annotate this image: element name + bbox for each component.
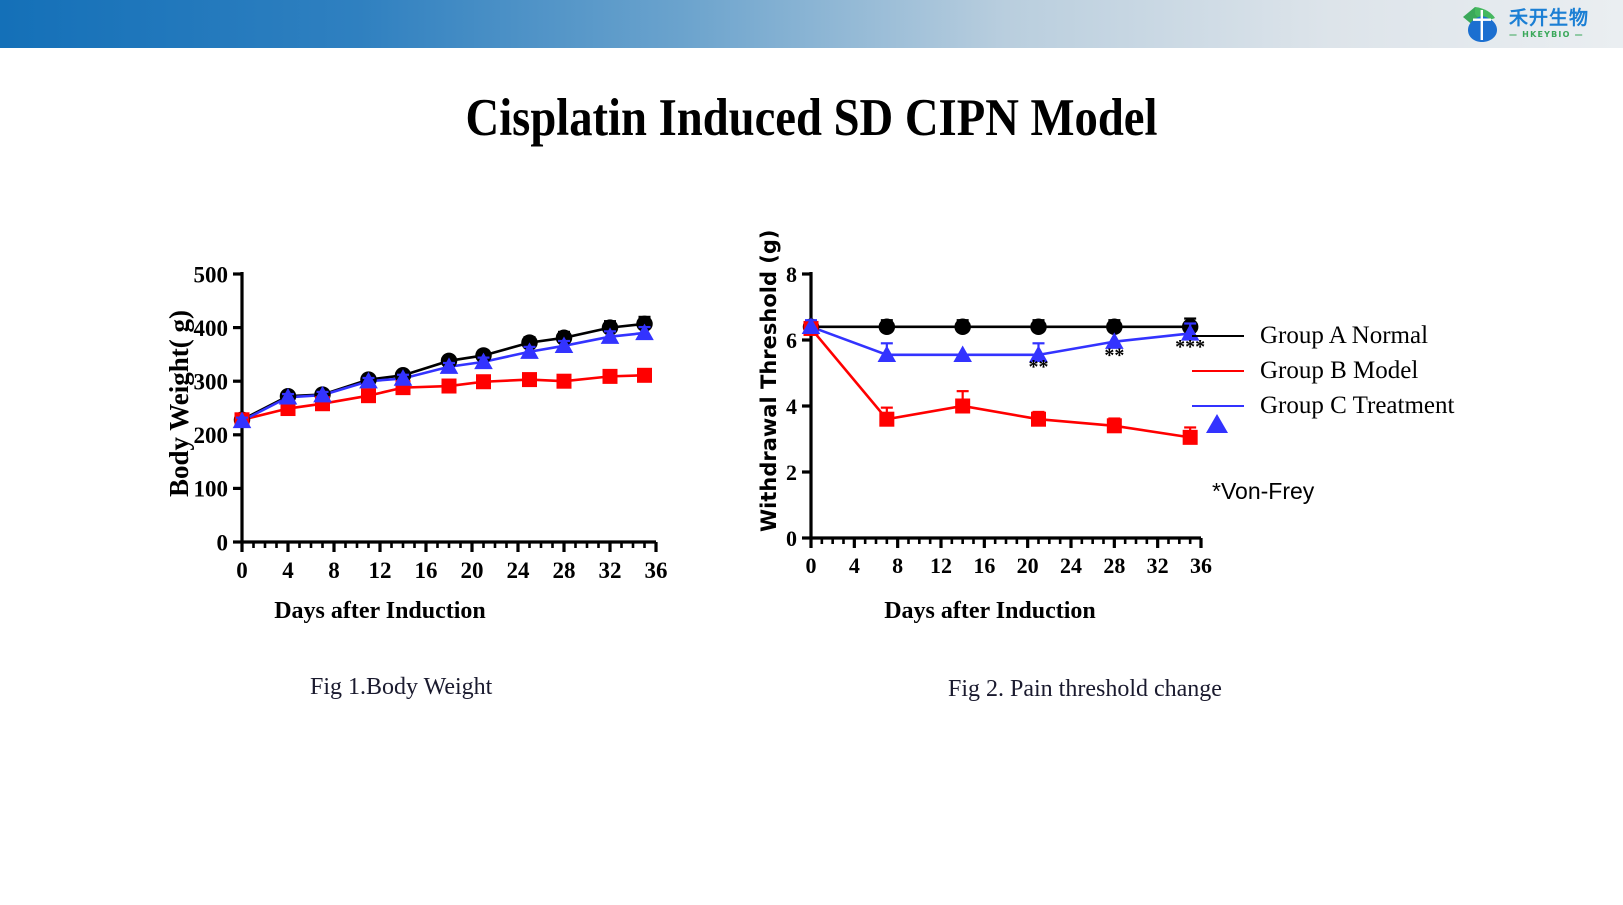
- legend-item-group-b: Group B Model: [1190, 353, 1454, 388]
- svg-text:8: 8: [328, 558, 340, 583]
- fig1-plot: 010020030040050004812162024283236: [150, 262, 670, 592]
- svg-text:36: 36: [1190, 553, 1212, 578]
- svg-text:36: 36: [645, 558, 668, 583]
- legend-label-group-a: Group A Normal: [1260, 322, 1428, 350]
- legend-item-group-a: Group A Normal: [1190, 318, 1454, 353]
- legend-item-group-c: Group C Treatment: [1190, 388, 1454, 423]
- svg-text:16: 16: [973, 553, 995, 578]
- svg-text:4: 4: [282, 558, 294, 583]
- legend-label-group-b: Group B Model: [1260, 357, 1418, 385]
- fig1-y-axis-label: Body Weight( g): [164, 310, 195, 497]
- legend-triangle-icon: [1190, 393, 1246, 419]
- svg-text:4: 4: [786, 394, 797, 419]
- logo-cn-text: 禾开生物: [1509, 9, 1589, 28]
- fig2-y-axis-label: Withdrawal Threshold (g): [757, 229, 781, 532]
- chart-legend: Group A Normal Group B Model Group C Tre…: [1190, 318, 1454, 423]
- svg-text:28: 28: [1103, 553, 1125, 578]
- fig1-x-axis-label: Days after Induction: [170, 598, 590, 625]
- svg-text:500: 500: [194, 262, 229, 287]
- svg-text:28: 28: [553, 558, 576, 583]
- figure-body-weight: Body Weight( g) 010020030040050004812162…: [150, 262, 670, 662]
- hkeybio-logo: 禾开生物 — HKEYBIO —: [1461, 3, 1611, 45]
- svg-text:12: 12: [930, 553, 952, 578]
- svg-text:24: 24: [1060, 553, 1082, 578]
- logo-en-text: — HKEYBIO —: [1509, 31, 1589, 39]
- svg-text:0: 0: [806, 553, 817, 578]
- svg-text:16: 16: [415, 558, 438, 583]
- svg-text:100: 100: [194, 477, 229, 502]
- svg-text:200: 200: [194, 423, 229, 448]
- svg-text:2: 2: [786, 460, 797, 485]
- svg-text:32: 32: [1147, 553, 1169, 578]
- legend-square-icon: [1190, 358, 1246, 384]
- logo-wordmark: 禾开生物 — HKEYBIO —: [1509, 9, 1589, 39]
- von-frey-footnote: *Von-Frey: [1212, 478, 1314, 505]
- svg-text:300: 300: [194, 369, 229, 394]
- fig2-plot: 0246804812162024283236*******: [745, 262, 1215, 592]
- svg-text:8: 8: [786, 262, 797, 287]
- svg-text:**: **: [1104, 344, 1124, 366]
- svg-text:0: 0: [786, 526, 797, 551]
- header-band: 禾开生物 — HKEYBIO —: [0, 0, 1623, 48]
- svg-text:12: 12: [369, 558, 392, 583]
- svg-text:8: 8: [892, 553, 903, 578]
- svg-text:6: 6: [786, 328, 797, 353]
- fig2-caption: Fig 2. Pain threshold change: [948, 676, 1222, 703]
- leaf-drop-logo-icon: [1461, 4, 1503, 44]
- svg-text:**: **: [1029, 356, 1049, 378]
- svg-text:0: 0: [217, 530, 229, 555]
- svg-text:20: 20: [461, 558, 484, 583]
- slide-title: Cisplatin Induced SD CIPN Model: [97, 88, 1525, 148]
- figure-pain-threshold: Withdrawal Threshold (g) 024680481216202…: [745, 262, 1215, 662]
- legend-label-group-c: Group C Treatment: [1260, 392, 1454, 420]
- svg-text:32: 32: [599, 558, 622, 583]
- svg-text:20: 20: [1017, 553, 1039, 578]
- fig1-caption: Fig 1.Body Weight: [310, 674, 492, 701]
- legend-circle-icon: [1190, 323, 1246, 349]
- svg-text:0: 0: [236, 558, 248, 583]
- svg-text:400: 400: [194, 316, 229, 341]
- svg-text:24: 24: [507, 558, 531, 583]
- svg-text:4: 4: [849, 553, 860, 578]
- fig2-x-axis-label: Days after Induction: [800, 598, 1180, 625]
